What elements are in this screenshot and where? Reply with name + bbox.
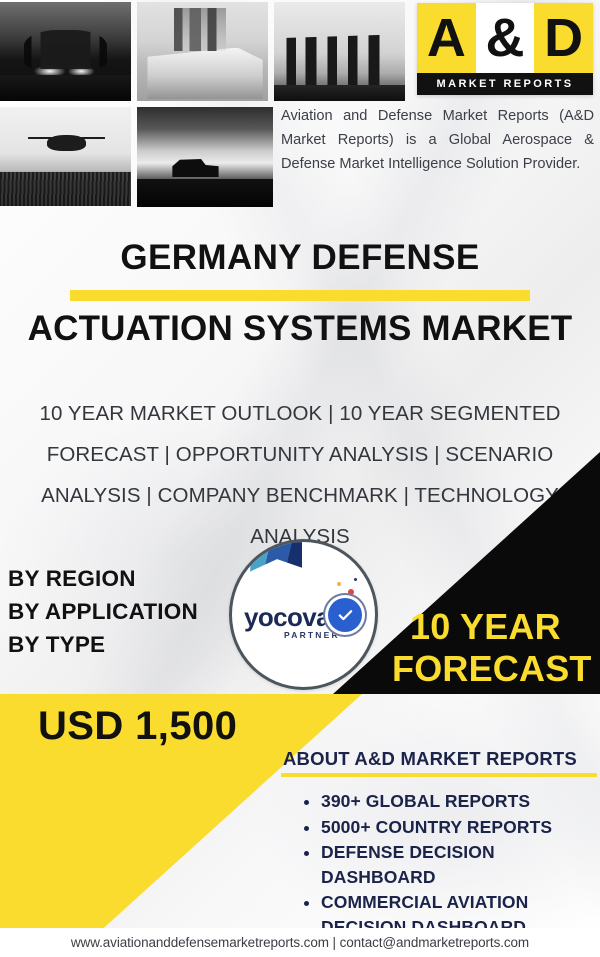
- title-yellow-rule: [70, 290, 530, 301]
- about-yellow-underline: [281, 773, 597, 777]
- yocova-partner-label: PARTNER: [284, 630, 340, 640]
- company-intro-paragraph: Aviation and Defense Market Reports (A&D…: [281, 104, 594, 176]
- logo-letters: A & D: [417, 3, 593, 73]
- segmentation-item-region: BY REGION: [8, 562, 198, 595]
- logo-letter-d: D: [534, 3, 593, 73]
- yocova-flag-mark-icon: [250, 539, 302, 586]
- confetti-dot-yellow: [337, 582, 341, 586]
- poster: A & D MARKET REPORTS Aviation and Defens…: [0, 0, 600, 957]
- forecast-line-1: 10 YEAR: [410, 606, 600, 648]
- yocova-partner-badge: yocova PARTNER: [229, 539, 378, 690]
- segmentation-item-type: BY TYPE: [8, 628, 198, 661]
- segmentation-item-application: BY APPLICATION: [8, 595, 198, 628]
- segmentation-list: BY REGION BY APPLICATION BY TYPE: [8, 562, 198, 661]
- confetti-dot-navy: [354, 578, 357, 581]
- ad-market-reports-logo: A & D MARKET REPORTS: [417, 3, 593, 95]
- armored-vehicle-photo: [137, 107, 273, 207]
- helicopter-photo: [0, 107, 131, 206]
- list-item: DEFENSE DECISION DASHBOARD: [321, 840, 600, 889]
- soldiers-silhouette-photo: [274, 2, 405, 101]
- title-line-2: ACTUATION SYSTEMS MARKET: [0, 311, 600, 348]
- report-title: GERMANY DEFENSE ACTUATION SYSTEMS MARKET: [0, 240, 600, 348]
- logo-letter-a: A: [417, 3, 476, 73]
- logo-subtitle-bar: MARKET REPORTS: [417, 73, 593, 95]
- list-item: 390+ GLOBAL REPORTS: [321, 789, 600, 814]
- forecast-callout: 10 YEAR FORECAST: [410, 606, 600, 690]
- yocova-wordmark: yocova: [244, 604, 334, 630]
- logo-subtitle-text: MARKET REPORTS: [437, 78, 574, 90]
- title-line-1: GERMANY DEFENSE: [0, 240, 600, 277]
- logo-letter-ampersand: &: [476, 3, 535, 73]
- forecast-line-2: FORECAST: [392, 648, 600, 690]
- naval-ship-photo: [137, 2, 268, 101]
- confetti-dot-red: [348, 589, 354, 595]
- price-amount: USD 1,500: [38, 704, 237, 749]
- report-scope-subtitle: 10 YEAR MARKET OUTLOOK | 10 YEAR SEGMENT…: [22, 393, 578, 557]
- about-bullet-list: 390+ GLOBAL REPORTS 5000+ COUNTRY REPORT…: [299, 789, 600, 940]
- fighter-jet-photo: [0, 2, 131, 101]
- about-heading: ABOUT A&D MARKET REPORTS: [283, 748, 577, 770]
- footer-contact[interactable]: www.aviationanddefensemarketreports.com …: [0, 928, 600, 957]
- verified-check-icon: [328, 598, 362, 632]
- list-item: 5000+ COUNTRY REPORTS: [321, 815, 600, 840]
- yocova-confetti-dots: [332, 578, 362, 596]
